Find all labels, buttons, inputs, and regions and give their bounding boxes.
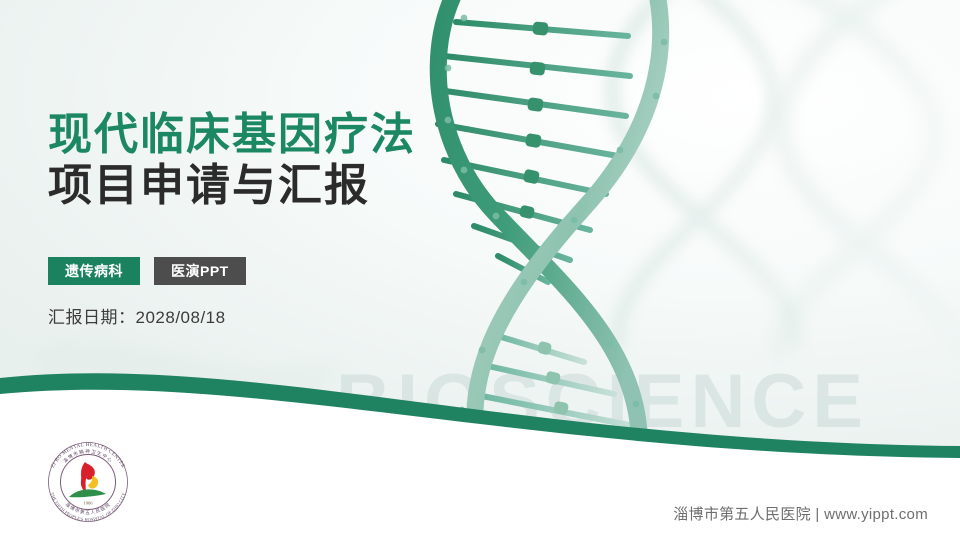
badge-group: 遗传病科 医演PPT <box>48 257 246 285</box>
title-slide: BIOSCIENCE <box>0 0 960 540</box>
title-line-1: 现代临床基因疗法 <box>48 110 416 159</box>
report-date: 汇报日期：2028/08/18 <box>48 303 226 328</box>
badge-department[interactable]: 遗传病科 <box>48 257 140 285</box>
badge-template[interactable]: 医演PPT <box>154 257 246 285</box>
page-title: 现代临床基因疗法 项目申请与汇报 <box>48 110 416 211</box>
footer-credit: 淄博市第五人民医院 | www.yippt.com <box>673 503 928 524</box>
logo-year: 1966 <box>83 501 93 506</box>
hospital-logo: ZI BO MENTAL HEALTH CENTER 淄博市精神卫生中心 THE… <box>38 432 138 532</box>
title-line-2: 项目申请与汇报 <box>48 161 416 210</box>
